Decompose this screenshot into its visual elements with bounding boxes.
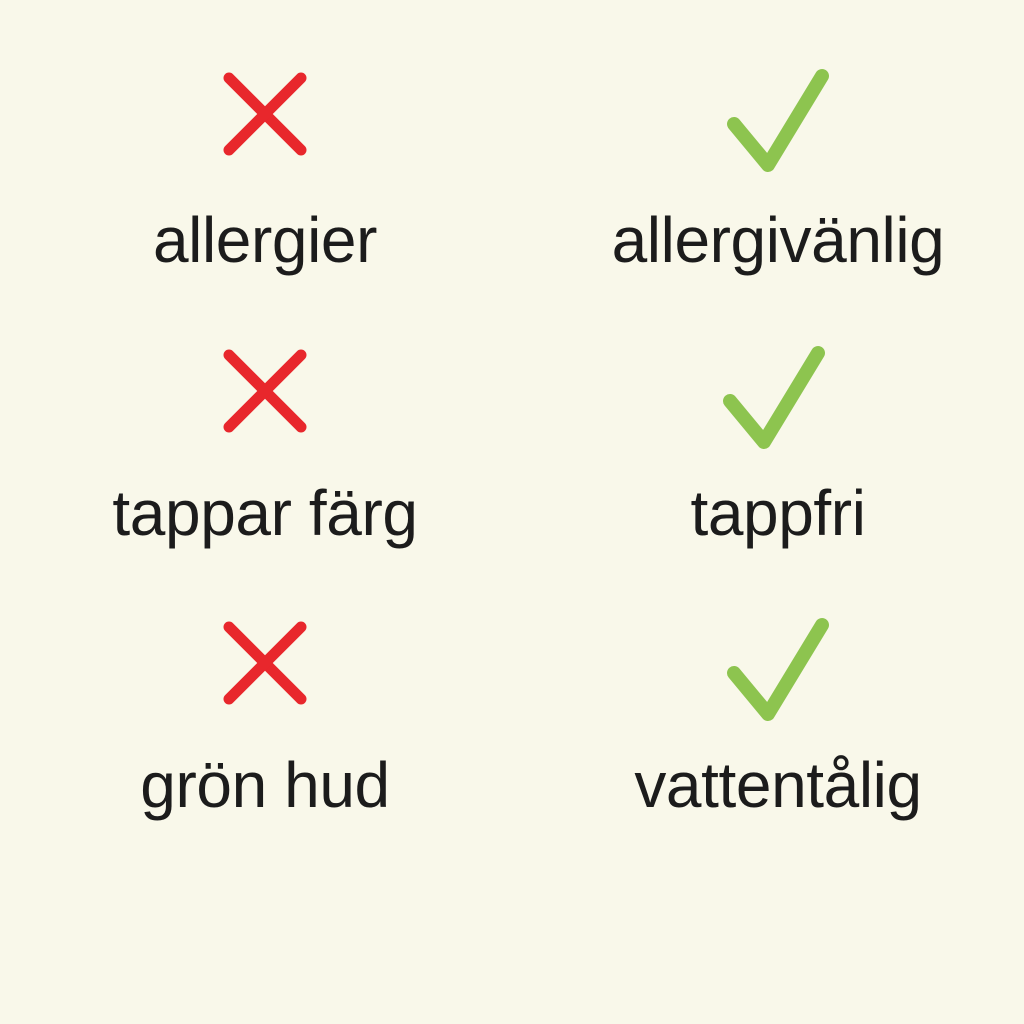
comparison-cell-positive-2: tappfri — [530, 337, 1024, 612]
comparison-label-negative-2: tappar färg — [112, 481, 417, 545]
comparison-cell-negative-1: allergier — [0, 62, 530, 337]
comparison-label-negative-3: grön hud — [140, 753, 389, 817]
cross-icon — [219, 337, 311, 457]
cross-icon — [219, 62, 311, 180]
check-icon — [726, 62, 830, 180]
comparison-label-negative-1: allergier — [153, 208, 377, 272]
cross-icon — [219, 612, 311, 729]
check-icon — [726, 612, 830, 729]
comparison-label-positive-1: allergivänlig — [612, 208, 945, 272]
comparison-label-positive-2: tappfri — [690, 481, 865, 545]
comparison-label-positive-3: vattentålig — [634, 753, 921, 817]
comparison-cell-negative-3: grön hud — [0, 612, 530, 887]
comparison-board: allergier allergivänlig tappar färg — [0, 0, 1024, 1024]
check-icon — [722, 337, 826, 457]
comparison-cell-positive-1: allergivänlig — [530, 62, 1024, 337]
comparison-cell-positive-3: vattentålig — [530, 612, 1024, 887]
comparison-cell-negative-2: tappar färg — [0, 337, 530, 612]
comparison-grid: allergier allergivänlig tappar färg — [0, 62, 1024, 887]
